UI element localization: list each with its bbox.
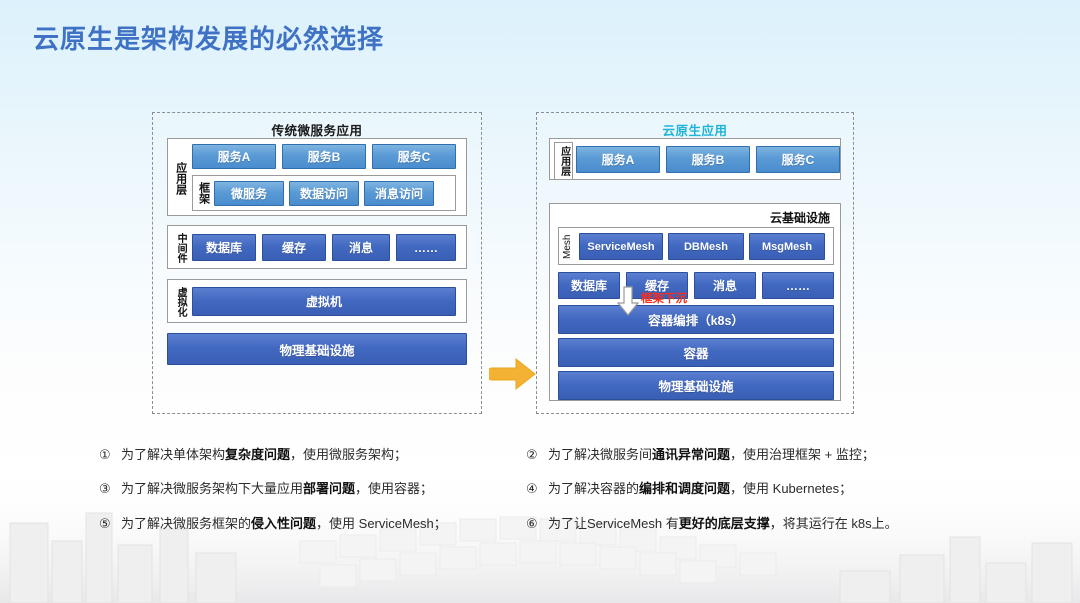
- left-virtualization-label: 虚拟化: [172, 282, 188, 322]
- left-framework-item-message-access[interactable]: 消息访问: [364, 181, 434, 206]
- right-panel-title: 云原生应用: [537, 120, 853, 139]
- bullet-text-2-post: ，使用治理框架 + 监控；: [730, 447, 875, 462]
- right-service-b[interactable]: 服务B: [666, 146, 750, 173]
- bullet-item-4: ④为了解决容器的编排和调度问题，使用 Kubernetes；: [526, 482, 986, 496]
- left-virtual-machine[interactable]: 虚拟机: [192, 287, 456, 316]
- bullet-item-2: ②为了解决微服务间通讯异常问题，使用治理框架 + 监控；: [526, 448, 986, 462]
- left-service-c[interactable]: 服务C: [372, 144, 456, 169]
- bullet-item-3: ③为了解决微服务架构下大量应用部署问题，使用容器；: [99, 482, 539, 496]
- left-middleware-database[interactable]: 数据库: [192, 234, 256, 261]
- left-framework-item-microservice[interactable]: 微服务: [214, 181, 284, 206]
- bullet-text-4-post: ，使用 Kubernetes；: [730, 481, 852, 496]
- bullet-text-6-post: ，将其运行在 k8s上。: [770, 516, 898, 531]
- left-framework-item-data-access[interactable]: 数据访问: [289, 181, 359, 206]
- bullet-text-3-pre: 为了解决微服务架构下大量应用: [121, 481, 303, 496]
- service-mesh-block[interactable]: ServiceMesh: [579, 233, 663, 260]
- cloud-infrastructure-group: 云基础设施 Mesh ServiceMesh DBMesh MsgMesh 数据…: [549, 203, 841, 401]
- left-service-b[interactable]: 服务B: [282, 144, 366, 169]
- bullet-text-5-bold: 侵入性问题: [251, 516, 316, 531]
- slide-title: 云原生是架构发展的必然选择: [33, 19, 384, 56]
- bullet-text-3-bold: 部署问题: [303, 481, 355, 496]
- architecture-diagram: 传统微服务应用 应用层 服务A 服务B 服务C 框架 微服务 数据访问 消息访问…: [0, 104, 1080, 424]
- mesh-frame: Mesh ServiceMesh DBMesh MsgMesh: [558, 227, 834, 265]
- container-block[interactable]: 容器: [558, 338, 834, 367]
- db-mesh-block[interactable]: DBMesh: [668, 233, 744, 260]
- bullet-text-2-bold: 通讯异常问题: [652, 447, 730, 462]
- left-service-a[interactable]: 服务A: [192, 144, 276, 169]
- right-service-a[interactable]: 服务A: [576, 146, 660, 173]
- cloud-infrastructure-label: 云基础设施: [770, 209, 830, 226]
- bullet-text-1-post: ，使用微服务架构；: [290, 447, 407, 462]
- bullet-number-3: ③: [99, 482, 121, 496]
- left-middleware-cache[interactable]: 缓存: [262, 234, 326, 261]
- bullet-number-5: ⑤: [99, 517, 121, 531]
- bullet-item-5: ⑤为了解决微服务框架的侵入性问题，使用 ServiceMesh；: [99, 517, 539, 531]
- bullet-column-right: ②为了解决微服务间通讯异常问题，使用治理框架 + 监控； ④为了解决容器的编排和…: [526, 448, 986, 551]
- left-middleware-message[interactable]: 消息: [332, 234, 390, 261]
- right-middleware-more[interactable]: ……: [762, 272, 834, 299]
- mesh-label: Mesh: [561, 232, 575, 262]
- framework-sink-label: 框架下沉: [641, 290, 687, 306]
- bullet-text-4-bold: 编排和调度问题: [639, 481, 730, 496]
- framework-sink-arrow-icon: [617, 286, 639, 316]
- bullet-text-4-pre: 为了解决容器的: [548, 481, 639, 496]
- right-app-layer-group: 应用层 服务A 服务B 服务C: [549, 138, 841, 180]
- bullet-number-1: ①: [99, 448, 121, 462]
- left-middleware-more[interactable]: ……: [396, 234, 456, 261]
- bullet-text-1-pre: 为了解决单体架构: [121, 447, 225, 462]
- bullet-text-6-bold: 更好的底层支撑: [679, 516, 770, 531]
- msg-mesh-block[interactable]: MsgMesh: [749, 233, 825, 260]
- right-physical-infrastructure[interactable]: 物理基础设施: [558, 371, 834, 400]
- right-middleware-message[interactable]: 消息: [694, 272, 756, 299]
- bullet-text-2-pre: 为了解决微服务间: [548, 447, 652, 462]
- left-middleware-group: 中间件 数据库 缓存 消息 ……: [167, 225, 467, 269]
- bullet-number-2: ②: [526, 448, 548, 462]
- left-framework-frame: 框架 微服务 数据访问 消息访问: [192, 175, 456, 211]
- bullet-text-6-pre: 为了让ServiceMesh 有: [548, 516, 679, 531]
- cloud-native-panel: 云原生应用 应用层 服务A 服务B 服务C 云基础设施 Mesh Service…: [536, 112, 854, 414]
- traditional-microservice-panel: 传统微服务应用 应用层 服务A 服务B 服务C 框架 微服务 数据访问 消息访问…: [152, 112, 482, 414]
- left-middleware-label: 中间件: [172, 228, 188, 268]
- right-middleware-database[interactable]: 数据库: [558, 272, 620, 299]
- bullet-item-1: ①为了解决单体架构复杂度问题，使用微服务架构；: [99, 448, 539, 462]
- bullet-text-5-post: ，使用 ServiceMesh；: [316, 516, 447, 531]
- right-app-layer-label: 应用层: [554, 142, 573, 180]
- bullet-column-left: ①为了解决单体架构复杂度问题，使用微服务架构； ③为了解决微服务架构下大量应用部…: [99, 448, 539, 551]
- left-framework-label: 框架: [196, 179, 210, 207]
- right-service-c[interactable]: 服务C: [756, 146, 840, 173]
- left-panel-title: 传统微服务应用: [153, 120, 481, 139]
- left-physical-infrastructure[interactable]: 物理基础设施: [167, 333, 467, 365]
- bullet-number-6: ⑥: [526, 517, 548, 531]
- transition-arrow-icon: [489, 357, 537, 391]
- left-virtualization-group: 虚拟化 虚拟机: [167, 279, 467, 323]
- left-app-layer-label: 应用层: [172, 145, 188, 211]
- bullet-item-6: ⑥为了让ServiceMesh 有更好的底层支撑，将其运行在 k8s上。: [526, 517, 986, 531]
- bullet-text-3-post: ，使用容器；: [355, 481, 433, 496]
- bullet-text-1-bold: 复杂度问题: [225, 447, 290, 462]
- container-orchestration-block[interactable]: 容器编排（k8s）: [558, 305, 834, 334]
- bullet-number-4: ④: [526, 482, 548, 496]
- bullet-text-5-pre: 为了解决微服务框架的: [121, 516, 251, 531]
- left-app-layer-group: 应用层 服务A 服务B 服务C 框架 微服务 数据访问 消息访问: [167, 138, 467, 216]
